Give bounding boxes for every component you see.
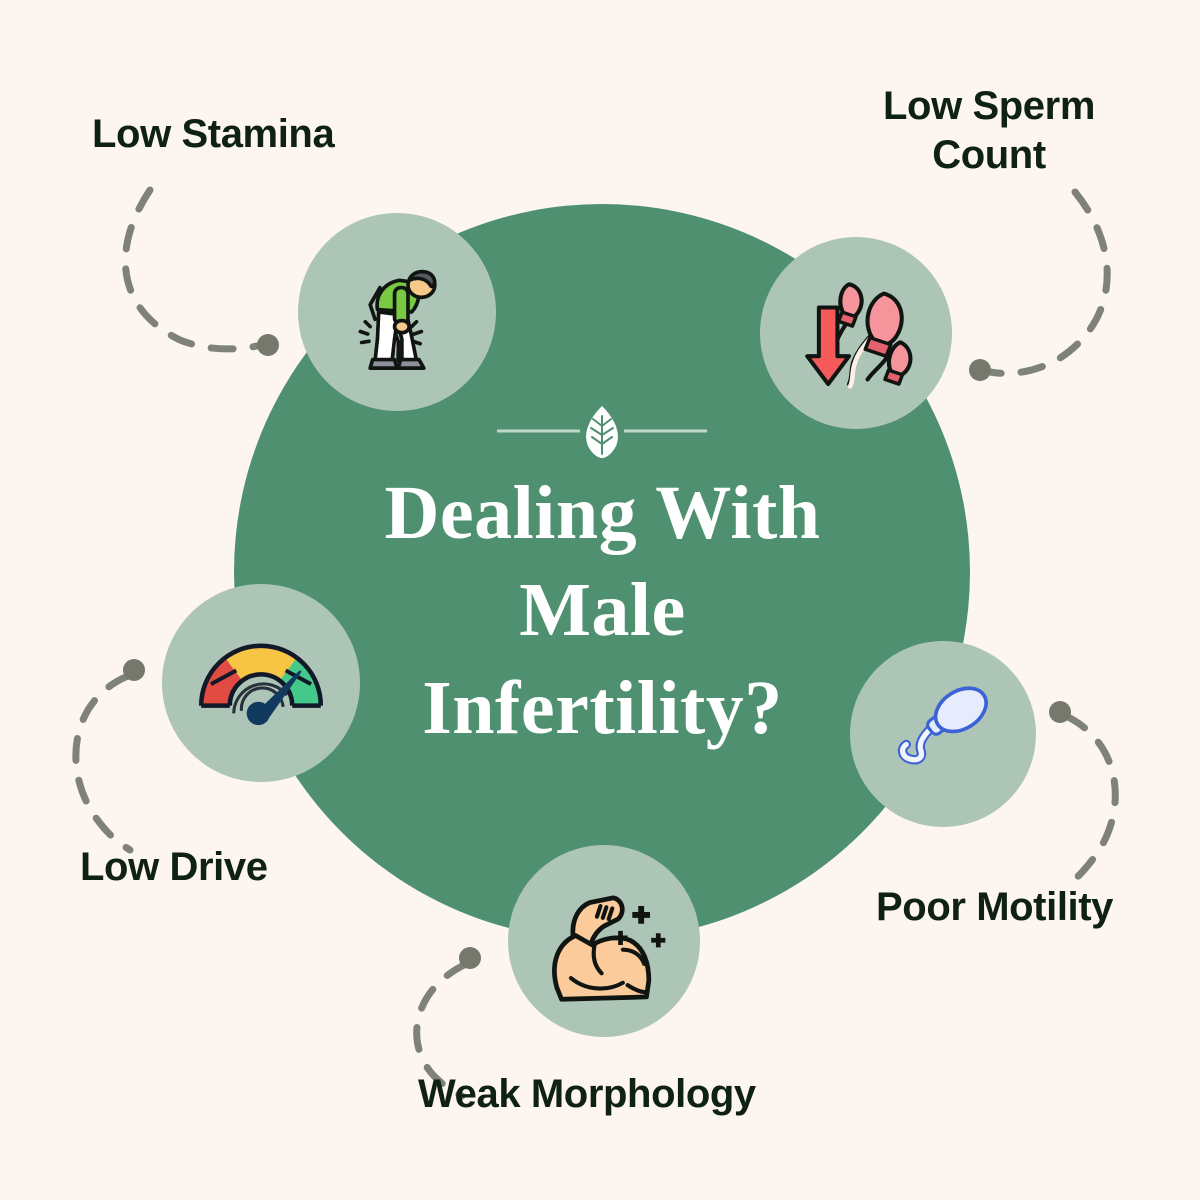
connector-dot-low-sperm-count [969, 359, 991, 381]
connector-dot-low-stamina [257, 334, 279, 356]
connector-low-sperm-count [986, 192, 1107, 373]
node-label-low-drive: Low Drive [80, 843, 268, 892]
connector-dot-weak-morphology [459, 947, 481, 969]
page-title: Dealing With Male Infertility? [320, 465, 885, 757]
connector-poor-motility [1066, 716, 1115, 882]
connector-low-drive [76, 676, 130, 850]
connector-dot-poor-motility [1049, 701, 1071, 723]
node-low-stamina[interactable] [298, 213, 496, 411]
node-label-poor-motility: Poor Motility [876, 883, 1113, 932]
connector-low-stamina [125, 190, 262, 349]
connector-dot-low-drive [123, 659, 145, 681]
bubble-low-sperm-count [760, 237, 952, 429]
node-label-low-stamina: Low Stamina [92, 110, 334, 159]
infographic-canvas: Dealing With Male Infertility? Low Stami… [0, 0, 1200, 1200]
node-label-low-sperm-count: Low Sperm Count [866, 82, 1112, 180]
node-weak-morphology[interactable] [508, 845, 700, 1037]
node-label-weak-morphology: Weak Morphology [418, 1070, 756, 1119]
node-low-sperm-count[interactable] [760, 237, 952, 429]
